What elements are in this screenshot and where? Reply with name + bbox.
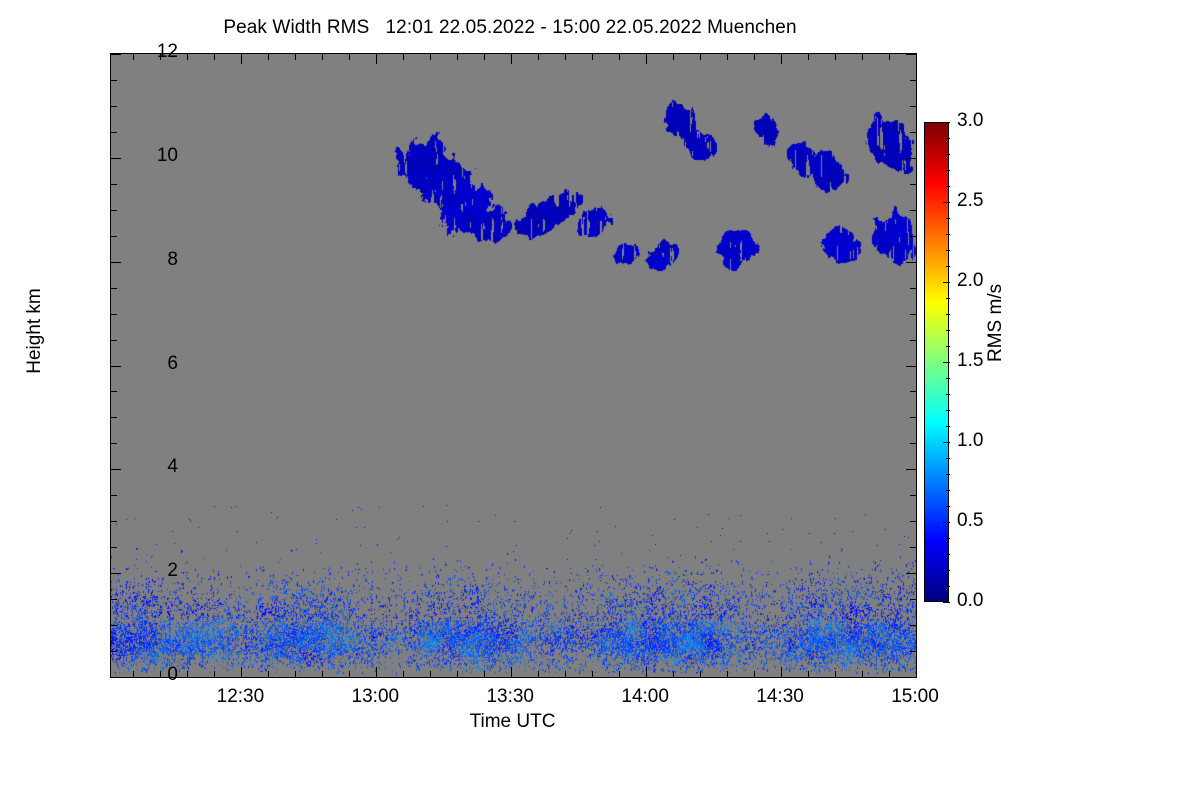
x-minor-tick bbox=[295, 671, 296, 677]
y-major-tick-right bbox=[906, 573, 916, 574]
y-minor-tick bbox=[111, 391, 117, 392]
colorbar-major-tick bbox=[943, 442, 950, 443]
colorbar-minor-tick bbox=[946, 554, 950, 555]
colorbar-minor-tick bbox=[946, 266, 950, 267]
colorbar-major-tick bbox=[943, 122, 950, 123]
x-minor-tick-top bbox=[700, 54, 701, 60]
colorbar-tick-label: 2.0 bbox=[957, 270, 983, 292]
x-major-tick bbox=[241, 667, 242, 677]
x-major-tick bbox=[511, 667, 512, 677]
y-minor-tick bbox=[111, 80, 117, 81]
colorbar-tick-label: 2.5 bbox=[957, 190, 983, 212]
y-minor-tick-right bbox=[910, 547, 916, 548]
x-minor-tick bbox=[808, 671, 809, 677]
colorbar-minor-tick bbox=[946, 506, 950, 507]
x-major-tick-top bbox=[511, 54, 512, 64]
y-axis-tick-label: 6 bbox=[118, 353, 178, 375]
y-minor-tick bbox=[111, 651, 117, 652]
y-minor-tick-right bbox=[910, 495, 916, 496]
x-minor-tick bbox=[349, 671, 350, 677]
y-minor-tick-right bbox=[910, 106, 916, 107]
colorbar-major-tick bbox=[943, 522, 950, 523]
y-major-tick-right bbox=[906, 54, 916, 55]
colorbar-minor-tick bbox=[946, 410, 950, 411]
plot-area[interactable] bbox=[110, 53, 917, 678]
x-major-tick bbox=[781, 667, 782, 677]
x-minor-tick bbox=[403, 671, 404, 677]
x-major-tick bbox=[376, 667, 377, 677]
colorbar-minor-tick bbox=[946, 474, 950, 475]
y-major-tick-right bbox=[906, 158, 916, 159]
colorbar-tick-label: 0.0 bbox=[957, 590, 983, 612]
x-minor-tick bbox=[538, 671, 539, 677]
y-major-tick-right bbox=[906, 469, 916, 470]
colorbar-minor-tick bbox=[946, 538, 950, 539]
x-minor-tick-top bbox=[808, 54, 809, 60]
x-major-tick bbox=[646, 667, 647, 677]
colorbar-major-tick bbox=[943, 202, 950, 203]
colorbar-minor-tick bbox=[946, 378, 950, 379]
x-minor-tick bbox=[619, 671, 620, 677]
y-minor-tick bbox=[111, 495, 117, 496]
x-axis-title: Time UTC bbox=[110, 711, 915, 733]
colorbar-tick-label: 1.0 bbox=[957, 430, 983, 452]
y-minor-tick bbox=[111, 443, 117, 444]
x-minor-tick bbox=[484, 671, 485, 677]
y-major-tick-right bbox=[906, 262, 916, 263]
x-minor-tick-top bbox=[889, 54, 890, 60]
colorbar-minor-tick bbox=[946, 586, 950, 587]
y-minor-tick-right bbox=[910, 314, 916, 315]
x-minor-tick-top bbox=[295, 54, 296, 60]
x-minor-tick bbox=[835, 671, 836, 677]
x-minor-tick bbox=[673, 671, 674, 677]
y-minor-tick bbox=[111, 340, 117, 341]
x-minor-tick-top bbox=[322, 54, 323, 60]
y-minor-tick bbox=[111, 288, 117, 289]
colorbar-major-tick bbox=[943, 602, 950, 603]
colorbar[interactable] bbox=[924, 122, 949, 602]
y-axis-tick-label: 8 bbox=[118, 249, 178, 271]
colorbar-minor-tick bbox=[946, 426, 950, 427]
y-minor-tick-right bbox=[910, 340, 916, 341]
x-minor-tick-top bbox=[727, 54, 728, 60]
y-minor-tick bbox=[111, 106, 117, 107]
x-major-tick bbox=[916, 667, 917, 677]
x-axis-tick-label: 13:00 bbox=[315, 686, 435, 708]
x-axis-tick-label: 14:30 bbox=[720, 686, 840, 708]
colorbar-major-tick bbox=[943, 362, 950, 363]
colorbar-minor-tick bbox=[946, 570, 950, 571]
colorbar-title: RMS m/s bbox=[985, 284, 1007, 362]
y-minor-tick bbox=[111, 210, 117, 211]
y-axis-tick-label: 12 bbox=[118, 41, 178, 63]
colorbar-tick-label: 3.0 bbox=[957, 110, 983, 132]
colorbar-minor-tick bbox=[946, 234, 950, 235]
x-minor-tick bbox=[268, 671, 269, 677]
x-minor-tick bbox=[565, 671, 566, 677]
colorbar-minor-tick bbox=[946, 394, 950, 395]
x-minor-tick-top bbox=[403, 54, 404, 60]
y-major-tick-right bbox=[906, 677, 916, 678]
x-minor-tick-top bbox=[592, 54, 593, 60]
y-minor-tick-right bbox=[910, 651, 916, 652]
colorbar-major-tick bbox=[943, 282, 950, 283]
x-axis-tick-label: 12:30 bbox=[180, 686, 300, 708]
y-minor-tick bbox=[111, 236, 117, 237]
x-minor-tick-top bbox=[214, 54, 215, 60]
x-minor-tick bbox=[214, 671, 215, 677]
y-minor-tick bbox=[111, 599, 117, 600]
x-minor-tick-top bbox=[187, 54, 188, 60]
colorbar-minor-tick bbox=[946, 314, 950, 315]
x-major-tick-top bbox=[781, 54, 782, 64]
x-minor-tick bbox=[430, 671, 431, 677]
colorbar-minor-tick bbox=[946, 138, 950, 139]
y-minor-tick bbox=[111, 184, 117, 185]
x-minor-tick-top bbox=[538, 54, 539, 60]
x-minor-tick-top bbox=[673, 54, 674, 60]
x-minor-tick-top bbox=[268, 54, 269, 60]
y-major-tick-right bbox=[906, 366, 916, 367]
y-minor-tick bbox=[111, 417, 117, 418]
x-minor-tick bbox=[700, 671, 701, 677]
y-minor-tick bbox=[111, 521, 117, 522]
y-minor-tick-right bbox=[910, 288, 916, 289]
x-minor-tick bbox=[889, 671, 890, 677]
colorbar-minor-tick bbox=[946, 458, 950, 459]
y-axis-tick-label: 4 bbox=[118, 456, 178, 478]
colorbar-minor-tick bbox=[946, 170, 950, 171]
y-minor-tick-right bbox=[910, 210, 916, 211]
x-minor-tick-top bbox=[430, 54, 431, 60]
colorbar-minor-tick bbox=[946, 186, 950, 187]
y-axis-tick-label: 2 bbox=[118, 560, 178, 582]
x-minor-tick-top bbox=[565, 54, 566, 60]
colorbar-minor-tick bbox=[946, 250, 950, 251]
y-minor-tick-right bbox=[910, 80, 916, 81]
colorbar-minor-tick bbox=[946, 346, 950, 347]
x-minor-tick bbox=[862, 671, 863, 677]
y-axis-tick-label: 0 bbox=[118, 664, 178, 686]
x-minor-tick bbox=[754, 671, 755, 677]
heatmap-canvas bbox=[111, 54, 916, 677]
x-axis-tick-label: 13:30 bbox=[450, 686, 570, 708]
y-minor-tick-right bbox=[910, 625, 916, 626]
y-minor-tick-right bbox=[910, 521, 916, 522]
x-minor-tick bbox=[187, 671, 188, 677]
y-minor-tick-right bbox=[910, 184, 916, 185]
colorbar-tick-label: 1.5 bbox=[957, 350, 983, 372]
x-minor-tick-top bbox=[862, 54, 863, 60]
x-minor-tick bbox=[727, 671, 728, 677]
y-minor-tick-right bbox=[910, 443, 916, 444]
colorbar-minor-tick bbox=[946, 490, 950, 491]
x-major-tick-top bbox=[241, 54, 242, 64]
x-major-tick-top bbox=[376, 54, 377, 64]
figure-root: Peak Width RMS 12:01 22.05.2022 - 15:00 … bbox=[0, 0, 1200, 800]
colorbar-minor-tick bbox=[946, 298, 950, 299]
colorbar-tick-label: 0.5 bbox=[957, 510, 983, 532]
x-minor-tick bbox=[322, 671, 323, 677]
y-axis-title: Height km bbox=[24, 288, 46, 374]
colorbar-minor-tick bbox=[946, 218, 950, 219]
x-minor-tick-top bbox=[619, 54, 620, 60]
x-axis-tick-label: 14:00 bbox=[585, 686, 705, 708]
x-minor-tick-top bbox=[484, 54, 485, 60]
x-major-tick-top bbox=[916, 54, 917, 64]
y-minor-tick bbox=[111, 547, 117, 548]
y-minor-tick-right bbox=[910, 599, 916, 600]
x-minor-tick-top bbox=[835, 54, 836, 60]
page-title: Peak Width RMS 12:01 22.05.2022 - 15:00 … bbox=[0, 17, 1020, 39]
y-axis-tick-label: 10 bbox=[118, 145, 178, 167]
y-minor-tick-right bbox=[910, 132, 916, 133]
y-minor-tick bbox=[111, 314, 117, 315]
x-major-tick-top bbox=[646, 54, 647, 64]
y-minor-tick-right bbox=[910, 417, 916, 418]
x-minor-tick-top bbox=[457, 54, 458, 60]
x-axis-tick-label: 15:00 bbox=[855, 686, 975, 708]
x-minor-tick bbox=[457, 671, 458, 677]
x-minor-tick bbox=[592, 671, 593, 677]
y-minor-tick bbox=[111, 132, 117, 133]
y-minor-tick-right bbox=[910, 236, 916, 237]
x-minor-tick-top bbox=[349, 54, 350, 60]
colorbar-minor-tick bbox=[946, 154, 950, 155]
colorbar-minor-tick bbox=[946, 330, 950, 331]
x-minor-tick-top bbox=[754, 54, 755, 60]
y-minor-tick bbox=[111, 625, 117, 626]
y-minor-tick-right bbox=[910, 391, 916, 392]
